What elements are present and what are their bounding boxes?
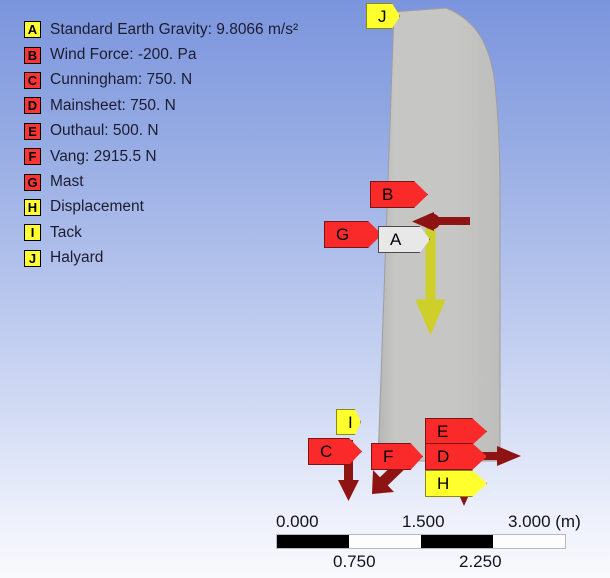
legend-label-H: Displacement — [50, 198, 144, 216]
legend-label-D: Mainsheet: 750. N — [50, 97, 176, 115]
legend-badge-E: E — [24, 123, 41, 140]
legend-label-E: Outhaul: 500. N — [50, 122, 159, 140]
legend-label-I: Tack — [50, 224, 82, 242]
graphics-viewport[interactable]: J B G A I C F E D H A Standard Earth Gra… — [0, 0, 610, 578]
annotation-legend: A Standard Earth Gravity: 9.8066 m/s² B … — [24, 17, 354, 271]
legend-label-G: Mast — [50, 173, 84, 191]
legend-row-H[interactable]: H Displacement — [24, 195, 354, 220]
scale-labels-top: 0.000 1.500 3.000 (m) — [276, 512, 566, 532]
scale-segment-2 — [349, 535, 421, 548]
scale-label-3000: 3.000 (m) — [508, 512, 581, 532]
scale-segment-3 — [421, 535, 493, 548]
legend-row-F[interactable]: F Vang: 2915.5 N — [24, 144, 354, 169]
scale-segment-1 — [277, 535, 349, 548]
legend-row-J[interactable]: J Halyard — [24, 246, 354, 271]
legend-row-A[interactable]: A Standard Earth Gravity: 9.8066 m/s² — [24, 17, 354, 42]
legend-row-B[interactable]: B Wind Force: -200. Pa — [24, 42, 354, 67]
scale-label-750: 0.750 — [333, 552, 376, 572]
scale-label-0: 0.000 — [276, 512, 319, 532]
scale-bar: 0.000 1.500 3.000 (m) 0.750 2.250 — [276, 512, 566, 572]
scale-label-2250: 2.250 — [459, 552, 502, 572]
legend-badge-G: G — [24, 174, 41, 191]
legend-label-A: Standard Earth Gravity: 9.8066 m/s² — [50, 21, 298, 39]
callout-tag-A[interactable]: A — [378, 226, 430, 253]
legend-row-C[interactable]: C Cunningham: 750. N — [24, 68, 354, 93]
legend-badge-F: F — [24, 148, 41, 165]
legend-label-C: Cunningham: 750. N — [50, 71, 192, 89]
legend-row-G[interactable]: G Mast — [24, 169, 354, 194]
legend-badge-A: A — [24, 21, 41, 38]
legend-label-F: Vang: 2915.5 N — [50, 148, 157, 166]
legend-badge-D: D — [24, 97, 41, 114]
legend-row-D[interactable]: D Mainsheet: 750. N — [24, 93, 354, 118]
legend-badge-J: J — [24, 250, 41, 267]
legend-label-J: Halyard — [50, 249, 103, 267]
legend-label-B: Wind Force: -200. Pa — [50, 46, 196, 64]
legend-badge-H: H — [24, 199, 41, 216]
callout-tag-I[interactable]: I — [336, 409, 361, 435]
legend-row-E[interactable]: E Outhaul: 500. N — [24, 119, 354, 144]
legend-row-I[interactable]: I Tack — [24, 220, 354, 245]
legend-badge-I: I — [24, 224, 41, 241]
scale-segment-4 — [493, 535, 565, 548]
scale-labels-bottom: 0.750 2.250 — [276, 552, 566, 572]
legend-badge-C: C — [24, 72, 41, 89]
scale-label-1500: 1.500 — [402, 512, 445, 532]
legend-badge-B: B — [24, 47, 41, 64]
scale-tick-strip — [276, 534, 566, 549]
